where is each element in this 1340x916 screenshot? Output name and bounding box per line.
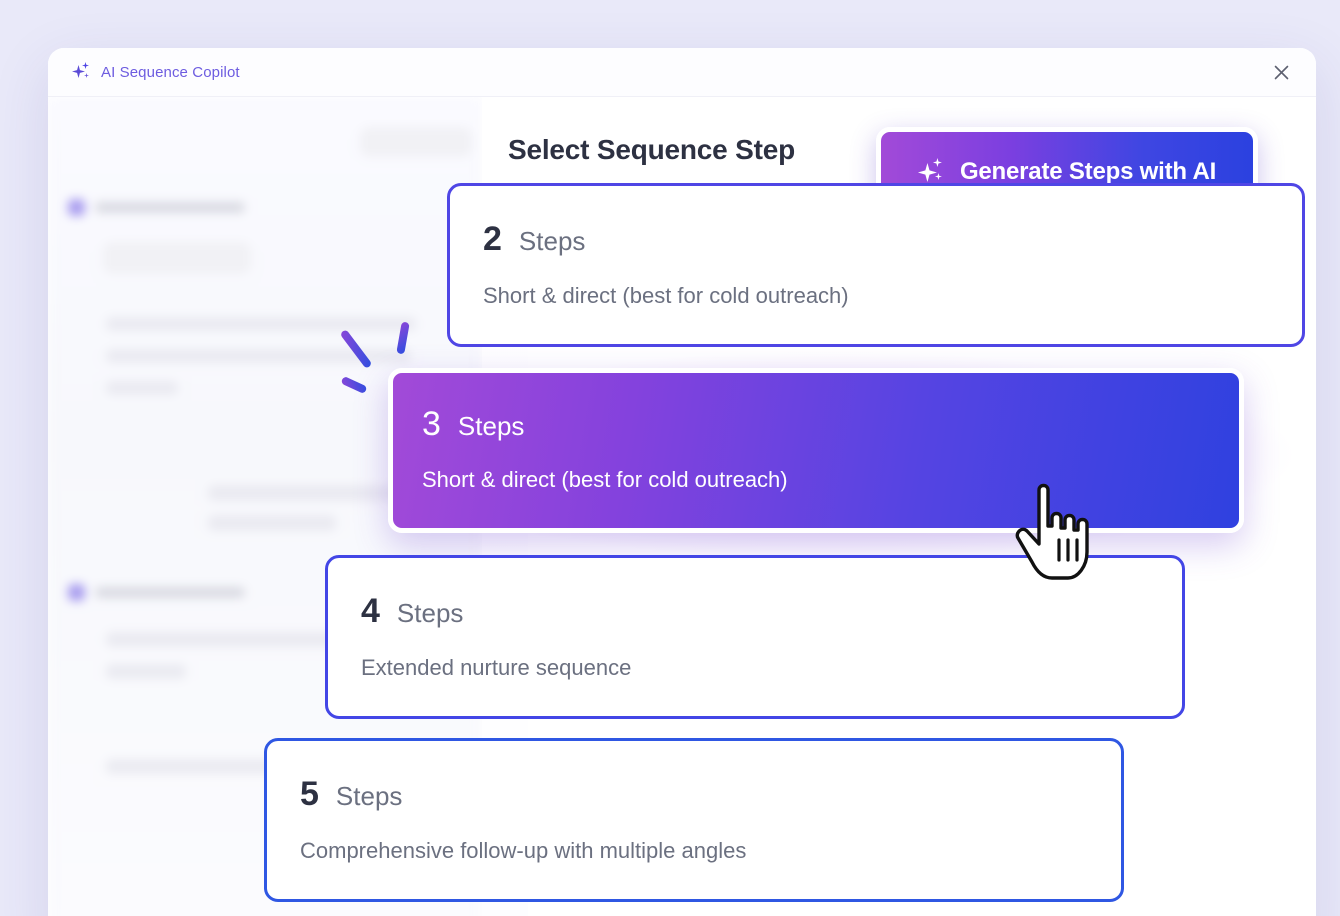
sequence-step-option-2[interactable]: 2 Steps Short & direct (best for cold ou… [447,183,1305,347]
option-head-row: 5 Steps [300,777,1121,811]
option-description: Extended nurture sequence [361,655,1182,681]
sequence-step-option-3[interactable]: 3 Steps Short & direct (best for cold ou… [388,368,1244,533]
option-description: Short & direct (best for cold outreach) [422,467,1239,493]
window-title: AI Sequence Copilot [101,64,240,81]
option-unit: Steps [458,413,525,439]
close-icon[interactable] [1268,59,1294,85]
page-title: Select Sequence Step [508,134,795,166]
option-unit: Steps [519,228,586,254]
sparkle-icon [72,62,92,82]
option-unit: Steps [336,783,403,809]
option-head-row: 2 Steps [483,222,1302,256]
option-count: 3 [422,407,441,441]
option-unit: Steps [397,600,464,626]
option-count: 4 [361,594,380,628]
sequence-step-option-5[interactable]: 5 Steps Comprehensive follow-up with mul… [264,738,1124,902]
sparkle-icon [918,158,946,186]
option-description: Comprehensive follow-up with multiple an… [300,838,1121,864]
option-description: Short & direct (best for cold outreach) [483,283,1302,309]
sequence-step-option-4[interactable]: 4 Steps Extended nurture sequence [325,555,1185,719]
window-titlebar: AI Sequence Copilot [48,48,1316,97]
option-head-row: 3 Steps [422,407,1239,441]
generate-button-label: Generate Steps with AI [960,158,1216,186]
option-count: 5 [300,777,319,811]
option-head-row: 4 Steps [361,594,1182,628]
option-count: 2 [483,222,502,256]
